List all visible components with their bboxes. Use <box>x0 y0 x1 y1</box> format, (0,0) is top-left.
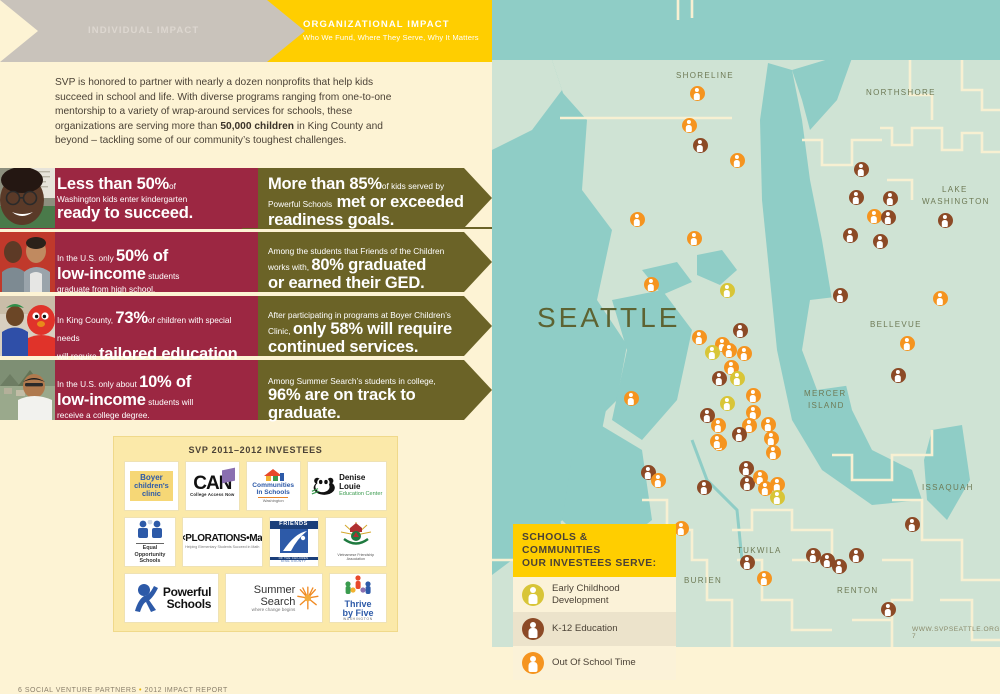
challenge-line3: graduate from high school. <box>57 284 253 295</box>
photo-child-mascot <box>0 296 55 356</box>
logo-vietnamese-friendship-association[interactable]: Vietnamese Friendship Association <box>325 517 387 567</box>
map-pin-k12[interactable] <box>740 555 755 570</box>
map-label-shoreline: SHORELINE <box>676 71 734 80</box>
map-pin-k12[interactable] <box>739 461 754 476</box>
map-label-lake: LAKE <box>942 185 968 194</box>
logo-college-access-now[interactable]: CAN College Access Now <box>185 461 240 511</box>
change-line3: graduate. <box>268 405 468 423</box>
map-pin-out-of-school[interactable] <box>900 336 915 351</box>
map-pin-k12[interactable] <box>697 480 712 495</box>
logo-line1: E×PLORATIONS•Math <box>182 534 263 545</box>
map-legend: SCHOOLS & COMMUNITIES OUR INVESTEES SERV… <box>513 524 676 680</box>
logo-friends-of-the-children[interactable]: FRIENDS OF THE CHILDREN KING COUNTY <box>269 517 319 567</box>
map-pin-out-of-school[interactable] <box>711 418 726 433</box>
logo-line2: Education Center <box>339 491 383 497</box>
change-stat: only 58% will require <box>293 320 452 338</box>
logo-line3: Schools <box>133 558 167 564</box>
legend-label-line2: Development <box>552 595 620 607</box>
map-pin-out-of-school[interactable] <box>746 388 761 403</box>
photo-student-machu-picchu <box>0 360 55 420</box>
stat-row: Less than 50%of Washington kids enter ki… <box>0 168 492 228</box>
logo-row: Equal Opportunity Schools E×PLORATIONS•M… <box>124 517 387 567</box>
change-stat: More than 85% <box>268 175 382 193</box>
logo-equal-opportunity-schools[interactable]: Equal Opportunity Schools <box>124 517 176 567</box>
logo-line1: Denise Louie <box>339 474 383 491</box>
map-pin-k12[interactable] <box>732 427 747 442</box>
change-prefix2: Clinic, <box>268 326 293 336</box>
logo-communities-in-schools[interactable]: Communities In Schools Washington <box>246 461 301 511</box>
logo-explorations-in-math[interactable]: E×PLORATIONS•Math Helping Elementary Stu… <box>182 517 263 567</box>
logo-line3: WASHINGTON <box>342 618 373 621</box>
friends-swoosh-icon <box>277 529 311 553</box>
left-content-panel: SVP is honored to partner with nearly a … <box>0 62 492 647</box>
challenge-line2-suffix: students <box>146 271 180 281</box>
map-label-bellevue: BELLEVUE <box>870 320 922 329</box>
logo-line2: where change begins <box>229 608 295 613</box>
logo-line1: Summer Search <box>229 584 295 608</box>
challenge-prefix: In the U.S. only <box>57 253 116 263</box>
map-label-mercer: MERCER <box>804 389 846 398</box>
challenge-line2-big: low-income <box>57 391 146 409</box>
challenge-stat: 50% of <box>116 247 168 265</box>
logo-line3: Washington <box>252 499 294 503</box>
map-pin-out-of-school[interactable] <box>766 445 781 460</box>
map-pin-location[interactable] <box>770 490 785 505</box>
panda-icon <box>311 474 337 498</box>
change-text: Among Summer Search’s students in colleg… <box>268 376 468 422</box>
map-pin-out-of-school[interactable] <box>624 391 639 406</box>
legend-item-out-of-school[interactable]: Out Of School Time <box>513 646 676 680</box>
legend-pin-icon-out-of-school <box>522 652 544 674</box>
change-text: After participating in programs at Boyer… <box>268 310 468 357</box>
map-pin-out-of-school[interactable] <box>933 291 948 306</box>
sunburst-icon <box>297 584 319 612</box>
map-pin-out-of-school[interactable] <box>630 212 645 227</box>
logo-boyer-childrens-clinic[interactable]: Boyer children's clinic <box>124 461 179 511</box>
change-stat: 96% are on track to <box>268 387 468 405</box>
change-line2-big: met or exceeded <box>337 193 464 211</box>
challenge-stat: Less than 50% <box>57 175 169 193</box>
thrive-star-people-icon <box>344 575 372 595</box>
map-pin-k12[interactable] <box>833 288 848 303</box>
footer-report-name: 2012 IMPACT REPORT <box>144 687 227 694</box>
logo-line1: Communities <box>252 482 294 489</box>
map-pin-k12[interactable] <box>891 368 906 383</box>
legend-label-early-childhood: Early Childhood Development <box>552 583 620 606</box>
footer-right-url: WWW.SVPSEATTLE.ORG 7 <box>912 626 1000 640</box>
investees-title: SVP 2011–2012 INVESTEES <box>114 445 397 455</box>
investees-logo-grid: Boyer children's clinic CAN College Acce… <box>124 461 387 629</box>
map-pin-k12[interactable] <box>873 234 888 249</box>
map-pin-k12[interactable] <box>854 162 869 177</box>
change-prefix2: works with, <box>268 262 311 272</box>
stat-row: In King County, 73%of children with spec… <box>0 296 492 356</box>
map-pin-k12[interactable] <box>843 228 858 243</box>
banner-label-organizational: ORGANIZATIONAL IMPACT Who We Fund, Where… <box>303 0 479 62</box>
map-pin-k12[interactable] <box>881 602 896 617</box>
footer-org-name: SOCIAL VENTURE PARTNERS <box>25 687 137 694</box>
challenge-text: Less than 50%of Washington kids enter ki… <box>57 176 253 223</box>
legend-pin-icon-k12 <box>522 618 544 640</box>
change-line3: or earned their GED. <box>268 275 468 293</box>
map-pin-k12[interactable] <box>849 548 864 563</box>
map-pin-k12[interactable] <box>905 517 920 532</box>
map-pin-out-of-school[interactable] <box>682 118 697 133</box>
challenge-stat: 10% of <box>139 373 191 391</box>
map-pin-k12[interactable] <box>938 213 953 228</box>
map-pin-out-of-school[interactable] <box>757 571 772 586</box>
map-pin-out-of-school[interactable] <box>867 209 882 224</box>
change-stat-suffix: of kids served by <box>382 181 444 191</box>
challenge-stat: 73% <box>115 309 147 327</box>
challenge-prefix: In King County, <box>57 315 115 325</box>
change-text: More than 85%of kids served by Powerful … <box>268 176 468 230</box>
logo-summer-search[interactable]: Summer Search where change begins <box>225 573 323 623</box>
stat-row: In the U.S. only 50% of low-income stude… <box>0 232 492 292</box>
map-pin-location[interactable] <box>730 371 745 386</box>
map-pin-k12[interactable] <box>832 559 847 574</box>
challenge-prefix: In the U.S. only about <box>57 379 139 389</box>
legend-title-line1: SCHOOLS & COMMUNITIES <box>522 531 668 557</box>
change-stat: 80% graduated <box>311 256 426 274</box>
map-pin-k12[interactable] <box>693 138 708 153</box>
stat-row: In the U.S. only about 10% of low-income… <box>0 360 492 420</box>
logo-powerful-schools[interactable]: Powerful Schools <box>124 573 219 623</box>
legend-pin-icon-early-childhood <box>522 584 544 606</box>
map-pin-out-of-school[interactable] <box>644 277 659 292</box>
challenge-line3: ready to succeed. <box>57 205 253 223</box>
map-pin-k12[interactable] <box>883 191 898 206</box>
challenge-text: In the U.S. only about 10% of low-income… <box>57 374 253 421</box>
map-pin-out-of-school[interactable] <box>737 346 752 361</box>
row-photo <box>0 360 55 420</box>
challenge-stat-suffix: of <box>169 181 176 191</box>
map-pin-out-of-school[interactable] <box>690 86 705 101</box>
map-label-burien: BURIEN <box>684 576 722 585</box>
map-pin-out-of-school[interactable] <box>710 434 725 449</box>
footer-page-number: 6 <box>18 687 22 694</box>
powerful-schools-figure-icon <box>132 583 160 613</box>
map-label-washington: WASHINGTON <box>922 197 990 206</box>
map-pin-out-of-school[interactable] <box>764 431 779 446</box>
logo-line2: Helping Elementary Students Succeed in M… <box>182 546 263 550</box>
logo-line3: KING COUNTY <box>270 560 318 563</box>
map-label-tukwila: TUKWILA <box>737 546 782 555</box>
row-photo <box>0 168 55 228</box>
legend-title-line2: OUR INVESTEES SERVE: <box>522 557 668 570</box>
challenge-text: In the U.S. only 50% of low-income stude… <box>57 248 253 295</box>
change-line3: continued services. <box>268 339 468 357</box>
map-pin-location[interactable] <box>720 396 735 411</box>
challenge-line2-big: low-income <box>57 265 146 283</box>
map-pin-out-of-school[interactable] <box>761 417 776 432</box>
map-pin-out-of-school[interactable] <box>730 153 745 168</box>
change-text: Among the students that Friends of the C… <box>268 246 468 293</box>
map-label-northshore: NORTHSHORE <box>866 88 936 97</box>
intro-highlight: 50,000 children <box>220 121 294 132</box>
map-label-issaquah: ISSAQUAH <box>922 483 974 492</box>
banner-label-organizational-title: ORGANIZATIONAL IMPACT <box>303 19 479 31</box>
row-photo <box>0 296 55 356</box>
logo-line2: Association <box>337 557 374 561</box>
photo-student-classroom <box>0 168 55 228</box>
infographic-page: INDIVIDUAL IMPACT ORGANIZATIONAL IMPACT … <box>0 0 1000 647</box>
banner-label-individual-title: INDIVIDUAL IMPACT <box>88 25 199 37</box>
map-label-island: ISLAND <box>808 401 845 410</box>
map-pin-out-of-school[interactable] <box>692 330 707 345</box>
footer-left: 6 SOCIAL VENTURE PARTNERS • 2012 IMPACT … <box>18 687 228 694</box>
change-line2-small: Powerful Schools <box>268 199 332 209</box>
logo-line3: clinic <box>134 490 169 498</box>
row-photo <box>0 232 55 292</box>
logo-line2: College Access Now <box>190 493 234 497</box>
map-pin-k12[interactable] <box>712 371 727 386</box>
cis-house-icon <box>252 469 294 481</box>
map-pin-out-of-school[interactable] <box>651 473 666 488</box>
can-book-icon <box>222 468 235 484</box>
logo-row: Powerful Schools Summer Search where cha… <box>124 573 387 623</box>
map-pin-k12[interactable] <box>806 548 821 563</box>
photo-two-students <box>0 232 55 292</box>
map-pin-k12[interactable] <box>733 323 748 338</box>
challenge-line3: receive a college degree. <box>57 410 253 421</box>
logo-row: Boyer children's clinic CAN College Acce… <box>124 461 387 511</box>
legend-label-out-of-school: Out Of School Time <box>552 657 636 669</box>
map-label-seattle: SEATTLE <box>537 302 680 334</box>
map-pin-out-of-school[interactable] <box>687 231 702 246</box>
vfa-emblem-icon <box>339 522 373 548</box>
map-pin-location[interactable] <box>720 283 735 298</box>
banner-label-organizational-sub: Who We Fund, Where They Serve, Why It Ma… <box>303 33 479 43</box>
legend-label-line1: Early Childhood <box>552 583 620 595</box>
legend-header: SCHOOLS & COMMUNITIES OUR INVESTEES SERV… <box>513 524 676 577</box>
map-label-renton: RENTON <box>837 586 878 595</box>
map-pin-k12[interactable] <box>881 210 896 225</box>
challenge-line2-suffix: students will <box>146 397 194 407</box>
intro-paragraph: SVP is honored to partner with nearly a … <box>55 76 400 149</box>
logo-thrive-by-five[interactable]: Thrive by Five WASHINGTON <box>329 573 387 623</box>
logo-line2: In Schools <box>252 489 294 496</box>
legend-label-k12: K-12 Education <box>552 623 618 635</box>
footer-separator: • <box>139 687 142 694</box>
legend-item-early-childhood[interactable]: Early Childhood Development <box>513 577 676 612</box>
map-pin-k12[interactable] <box>849 190 864 205</box>
map-pin-location[interactable] <box>705 345 720 360</box>
legend-item-k12[interactable]: K-12 Education <box>513 612 676 646</box>
map-pin-out-of-school[interactable] <box>722 343 737 358</box>
logo-line1: FRIENDS <box>270 521 318 529</box>
investees-box: SVP 2011–2012 INVESTEES Boyer children's… <box>113 436 398 632</box>
change-line3: readiness goals. <box>268 212 468 230</box>
logo-line2: Schools <box>163 598 211 610</box>
banner-label-individual: INDIVIDUAL IMPACT <box>88 0 199 62</box>
two-figures-icon <box>133 520 167 538</box>
logo-denise-louie-education-center[interactable]: Denise Louie Education Center <box>307 461 387 511</box>
